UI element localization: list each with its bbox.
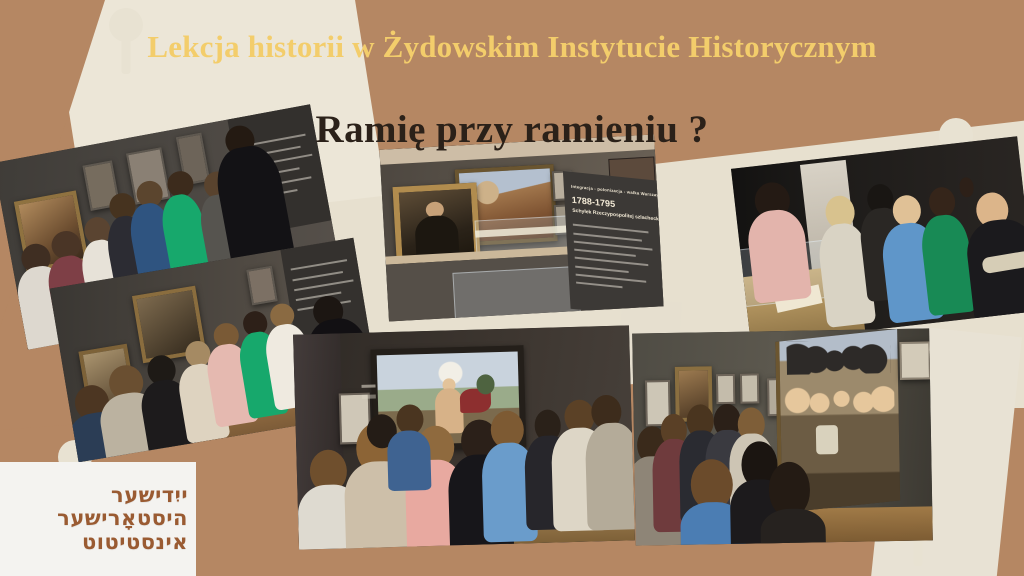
display-case-lower [452, 266, 580, 320]
photo-center[interactable]: Integracja - polonizacja - walka Warszaw… [379, 134, 663, 321]
zih-logo-line-3: אינסטיטוט [57, 531, 188, 555]
exhibit-panel-heading: Schyłek Rzeczypospolitej szlacheckiej [572, 208, 664, 223]
zih-logo-card: ייִדישער היסטאָרישער אינסטיטוט [0, 462, 196, 576]
zih-logo-line-1: ייִדישער [57, 484, 188, 508]
painting-tree [476, 374, 495, 394]
painting-document [816, 425, 838, 455]
person-body [387, 430, 432, 491]
framed-drawing [900, 341, 931, 379]
exhibit-info-panel: Integracja - polonizacja - walka Warszaw… [562, 171, 663, 321]
painting-canvas [249, 268, 275, 303]
photo-right[interactable] [731, 136, 1024, 343]
painting-crowd-row-back [786, 340, 891, 375]
photo-bottom-center-scene [293, 325, 635, 549]
page-title: Lekcja historii w Żydowskim Instytucie H… [0, 30, 1024, 64]
framed-drawing [716, 374, 735, 404]
zih-logo-line-2: היסטאָרישער [57, 507, 188, 531]
wall-label [362, 384, 376, 388]
photo-bottom-center[interactable] [293, 325, 635, 549]
photo-bottom-right-scene [632, 328, 933, 545]
person-body [585, 422, 635, 531]
photo-right-scene [731, 136, 1024, 343]
photo-bottom-right[interactable] [632, 328, 933, 545]
wall-label [362, 395, 376, 399]
page-subtitle: Ramię przy ramieniu ? [0, 109, 1024, 152]
framed-drawing [740, 374, 759, 404]
zih-logo-text: ייִדישער היסטאָרישער אינסטיטוט [57, 484, 196, 555]
painting-crowd-row-mid [784, 380, 894, 429]
photo-center-scene: Integracja - polonizacja - walka Warszaw… [379, 134, 663, 321]
poster-canvas: Integracja - polonizacja - walka Warszaw… [0, 0, 1024, 576]
person-body [760, 508, 826, 545]
